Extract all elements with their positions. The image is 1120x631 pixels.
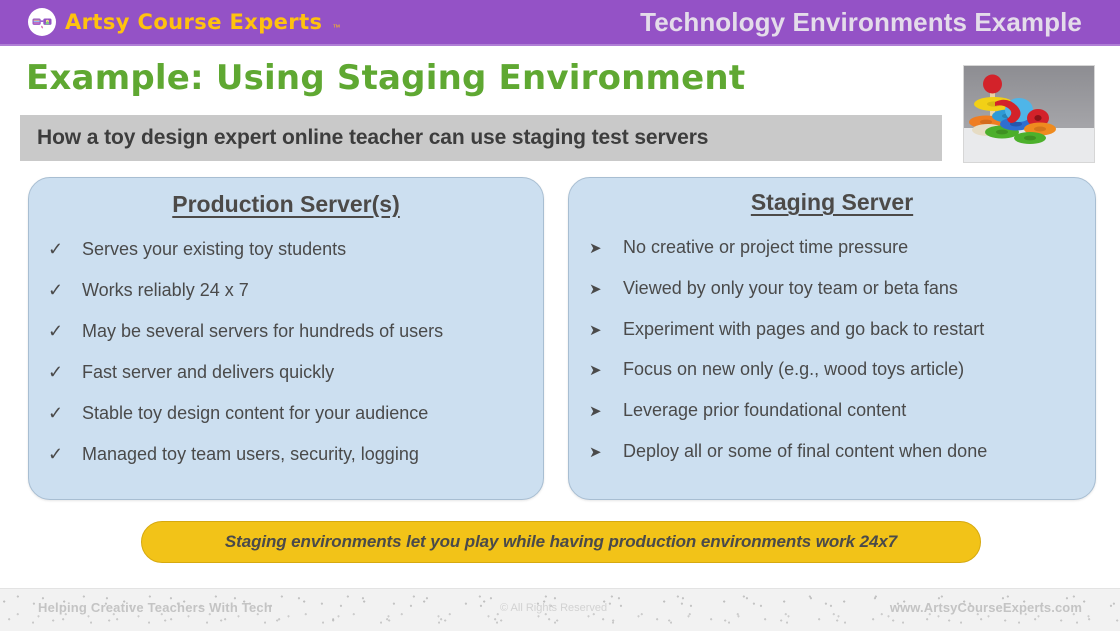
staging-server-panel: Staging Server ➤ No creative or project … (568, 177, 1096, 500)
list-item: ✓ Managed toy team users, security, logg… (48, 444, 543, 465)
list-item: ➤ No creative or project time pressure (589, 238, 1095, 258)
check-icon: ✓ (48, 403, 82, 424)
header-title: Technology Environments Example (640, 7, 1104, 38)
arrow-icon: ➤ (589, 321, 623, 339)
top-header-bar: Artsy Course Experts ™ Technology Enviro… (0, 0, 1120, 44)
list-item-label: No creative or project time pressure (623, 238, 908, 258)
subtitle-text: How a toy design expert online teacher c… (37, 126, 708, 150)
list-item-label: Deploy all or some of final content when… (623, 442, 987, 462)
arrow-icon: ➤ (589, 443, 623, 461)
arrow-icon: ➤ (589, 361, 623, 379)
panel-heading-production: Production Server(s) (29, 191, 543, 218)
list-item-label: Focus on new only (e.g., wood toys artic… (623, 360, 964, 380)
brand-logo-group[interactable]: Artsy Course Experts ™ (28, 8, 340, 36)
list-item-label: Stable toy design content for your audie… (82, 404, 428, 424)
header-underline (0, 44, 1120, 46)
footer-tagline: Helping Creative Teachers With Tech (38, 600, 272, 615)
arrow-icon: ➤ (589, 402, 623, 420)
list-item: ✓ Serves your existing toy students (48, 239, 543, 260)
check-icon: ✓ (48, 239, 82, 260)
glasses-avatar-icon (28, 8, 56, 36)
list-item: ➤ Deploy all or some of final content wh… (589, 442, 1095, 462)
list-item: ✓ May be several servers for hundreds of… (48, 321, 543, 342)
list-item: ➤ Viewed by only your toy team or beta f… (589, 279, 1095, 299)
footer-copyright: © All Rights Reserved (500, 602, 607, 614)
list-item: ✓ Stable toy design content for your aud… (48, 403, 543, 424)
list-item: ➤ Experiment with pages and go back to r… (589, 320, 1095, 340)
callout-text: Staging environments let you play while … (225, 532, 897, 552)
staging-server-list: ➤ No creative or project time pressure ➤… (569, 238, 1095, 462)
list-item: ➤ Leverage prior foundational content (589, 401, 1095, 421)
list-item-label: Leverage prior foundational content (623, 401, 906, 421)
check-icon: ✓ (48, 321, 82, 342)
list-item-label: Experiment with pages and go back to res… (623, 320, 984, 340)
page-title: Example: Using Staging Environment (26, 58, 745, 98)
production-server-panel: Production Server(s) ✓ Serves your exist… (28, 177, 544, 500)
production-server-list: ✓ Serves your existing toy students ✓ Wo… (29, 239, 543, 465)
check-icon: ✓ (48, 362, 82, 383)
list-item: ➤ Focus on new only (e.g., wood toys art… (589, 360, 1095, 380)
list-item-label: Managed toy team users, security, loggin… (82, 445, 419, 465)
check-icon: ✓ (48, 280, 82, 301)
stacking-toy-photo (963, 65, 1095, 163)
list-item: ✓ Works reliably 24 x 7 (48, 280, 543, 301)
brand-name: Artsy Course Experts (65, 10, 322, 34)
arrow-icon: ➤ (589, 280, 623, 298)
subtitle-bar: How a toy design expert online teacher c… (20, 115, 942, 161)
list-item: ✓ Fast server and delivers quickly (48, 362, 543, 383)
list-item-label: Works reliably 24 x 7 (82, 281, 249, 301)
arrow-icon: ➤ (589, 239, 623, 257)
footer-bar: Helping Creative Teachers With Tech © Al… (0, 588, 1120, 631)
list-item-label: May be several servers for hundreds of u… (82, 322, 443, 342)
panel-heading-staging: Staging Server (569, 189, 1095, 216)
list-item-label: Serves your existing toy students (82, 240, 346, 260)
list-item-label: Fast server and delivers quickly (82, 363, 334, 383)
footer-website-url[interactable]: www.ArtsyCourseExperts.com (890, 600, 1082, 615)
key-takeaway-callout: Staging environments let you play while … (141, 521, 981, 563)
brand-trademark: ™ (332, 23, 340, 36)
check-icon: ✓ (48, 444, 82, 465)
list-item-label: Viewed by only your toy team or beta fan… (623, 279, 958, 299)
